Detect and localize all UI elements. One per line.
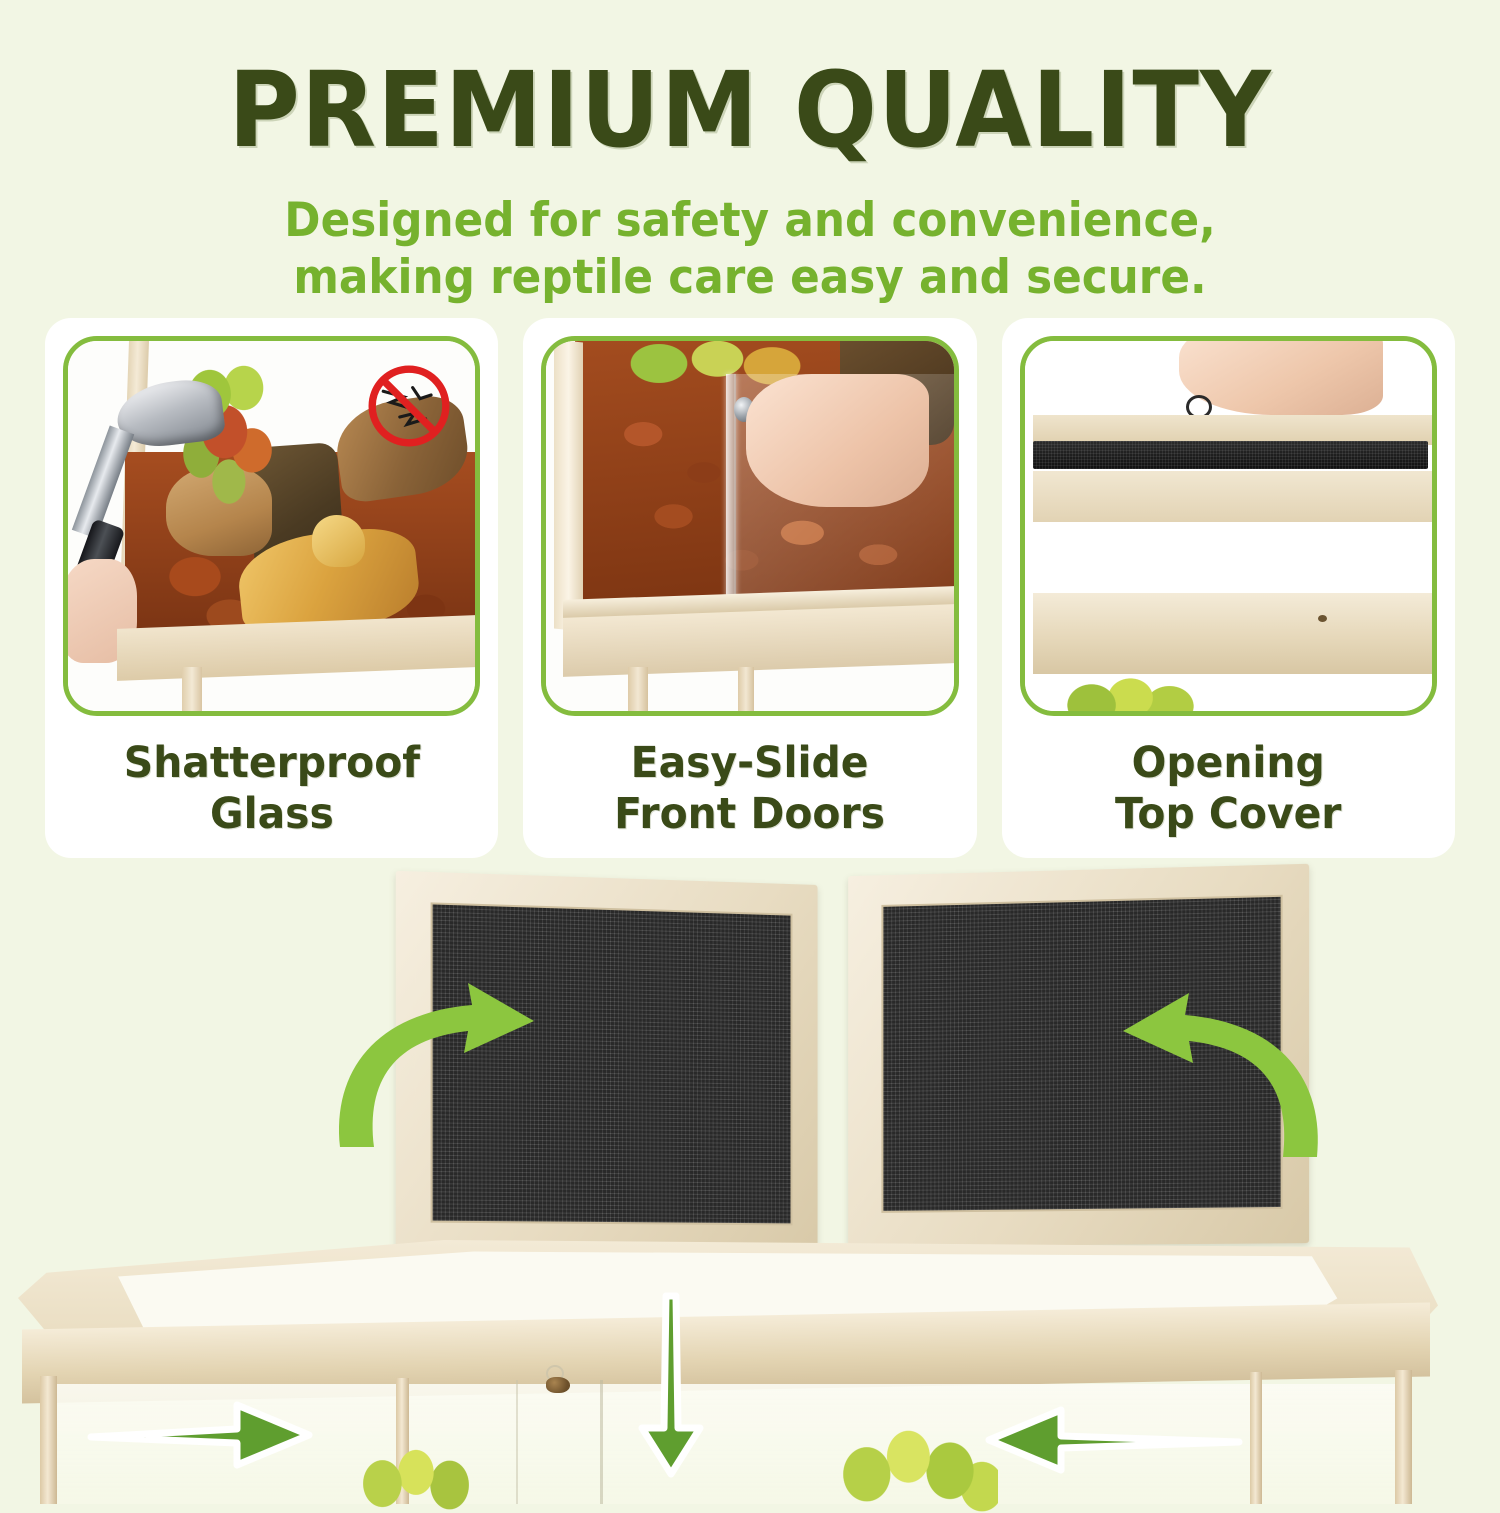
terrarium-lower-rail [1033,593,1432,674]
artificial-plant [356,1443,476,1513]
feature-label-line-2: Front Doors [615,789,886,840]
mesh-top-cover [1033,441,1428,469]
feature-label-line-1: Easy-Slide [615,738,886,789]
terrarium-leg [738,667,754,716]
terrarium-side-frame [554,340,583,632]
artificial-plant [1061,674,1199,716]
left-lid-mesh-panel [431,902,793,1225]
feature-image-opening-top-cover [1020,336,1437,716]
terrarium-glass-gap [1033,522,1432,592]
feature-card-shatterproof-glass[interactable]: Shatterproof Glass [45,318,498,858]
right-mesh-lid[interactable] [848,864,1309,1247]
no-crack-icon [363,360,455,452]
feature-label-shatterproof-glass: Shatterproof Glass [124,738,420,839]
page-subtitle: Designed for safety and convenience, mak… [53,192,1448,307]
product-hero-photo [0,860,1500,1500]
feature-label-opening-top-cover: Opening Top Cover [1115,738,1342,839]
feature-card-list: Shatterproof Glass Easy-Slide Front Door… [45,318,1455,858]
feature-label-line-2: Glass [124,789,420,840]
subtitle-line-1: Designed for safety and convenience, [53,192,1448,249]
right-lid-mesh-panel [881,895,1282,1213]
feature-label-easy-slide-front-doors: Easy-Slide Front Doors [615,738,886,839]
subtitle-line-2: making reptile care easy and secure. [53,249,1448,306]
terrarium-leg [628,667,648,716]
feature-label-line-1: Opening [1115,738,1342,789]
screw-icon [1318,615,1327,622]
hand-sliding-door [746,374,929,507]
terrarium-leg [182,667,202,716]
feature-card-easy-slide-front-doors[interactable]: Easy-Slide Front Doors [523,318,976,858]
terrarium-leg [1250,1372,1262,1504]
terrarium-front-glass-doors[interactable] [40,1384,1410,1504]
feature-card-opening-top-cover[interactable]: Opening Top Cover [1002,318,1455,858]
terrarium-leg [40,1376,57,1504]
header-section: PREMIUM QUALITY Designed for safety and … [0,0,1500,307]
glass-door-seam [516,1380,518,1504]
terrarium-leg [1395,1370,1412,1504]
glass-door-seam [600,1380,603,1504]
feature-label-line-2: Top Cover [1115,789,1342,840]
feature-image-easy-slide-front-doors [541,336,958,716]
feature-label-line-1: Shatterproof [124,738,420,789]
left-mesh-lid[interactable] [396,871,818,1259]
terrarium-upper-rail [1033,471,1432,523]
lock-latch-icon[interactable] [546,1377,570,1393]
page-title: PREMIUM QUALITY [45,58,1455,162]
feature-image-shatterproof-glass [63,336,480,716]
